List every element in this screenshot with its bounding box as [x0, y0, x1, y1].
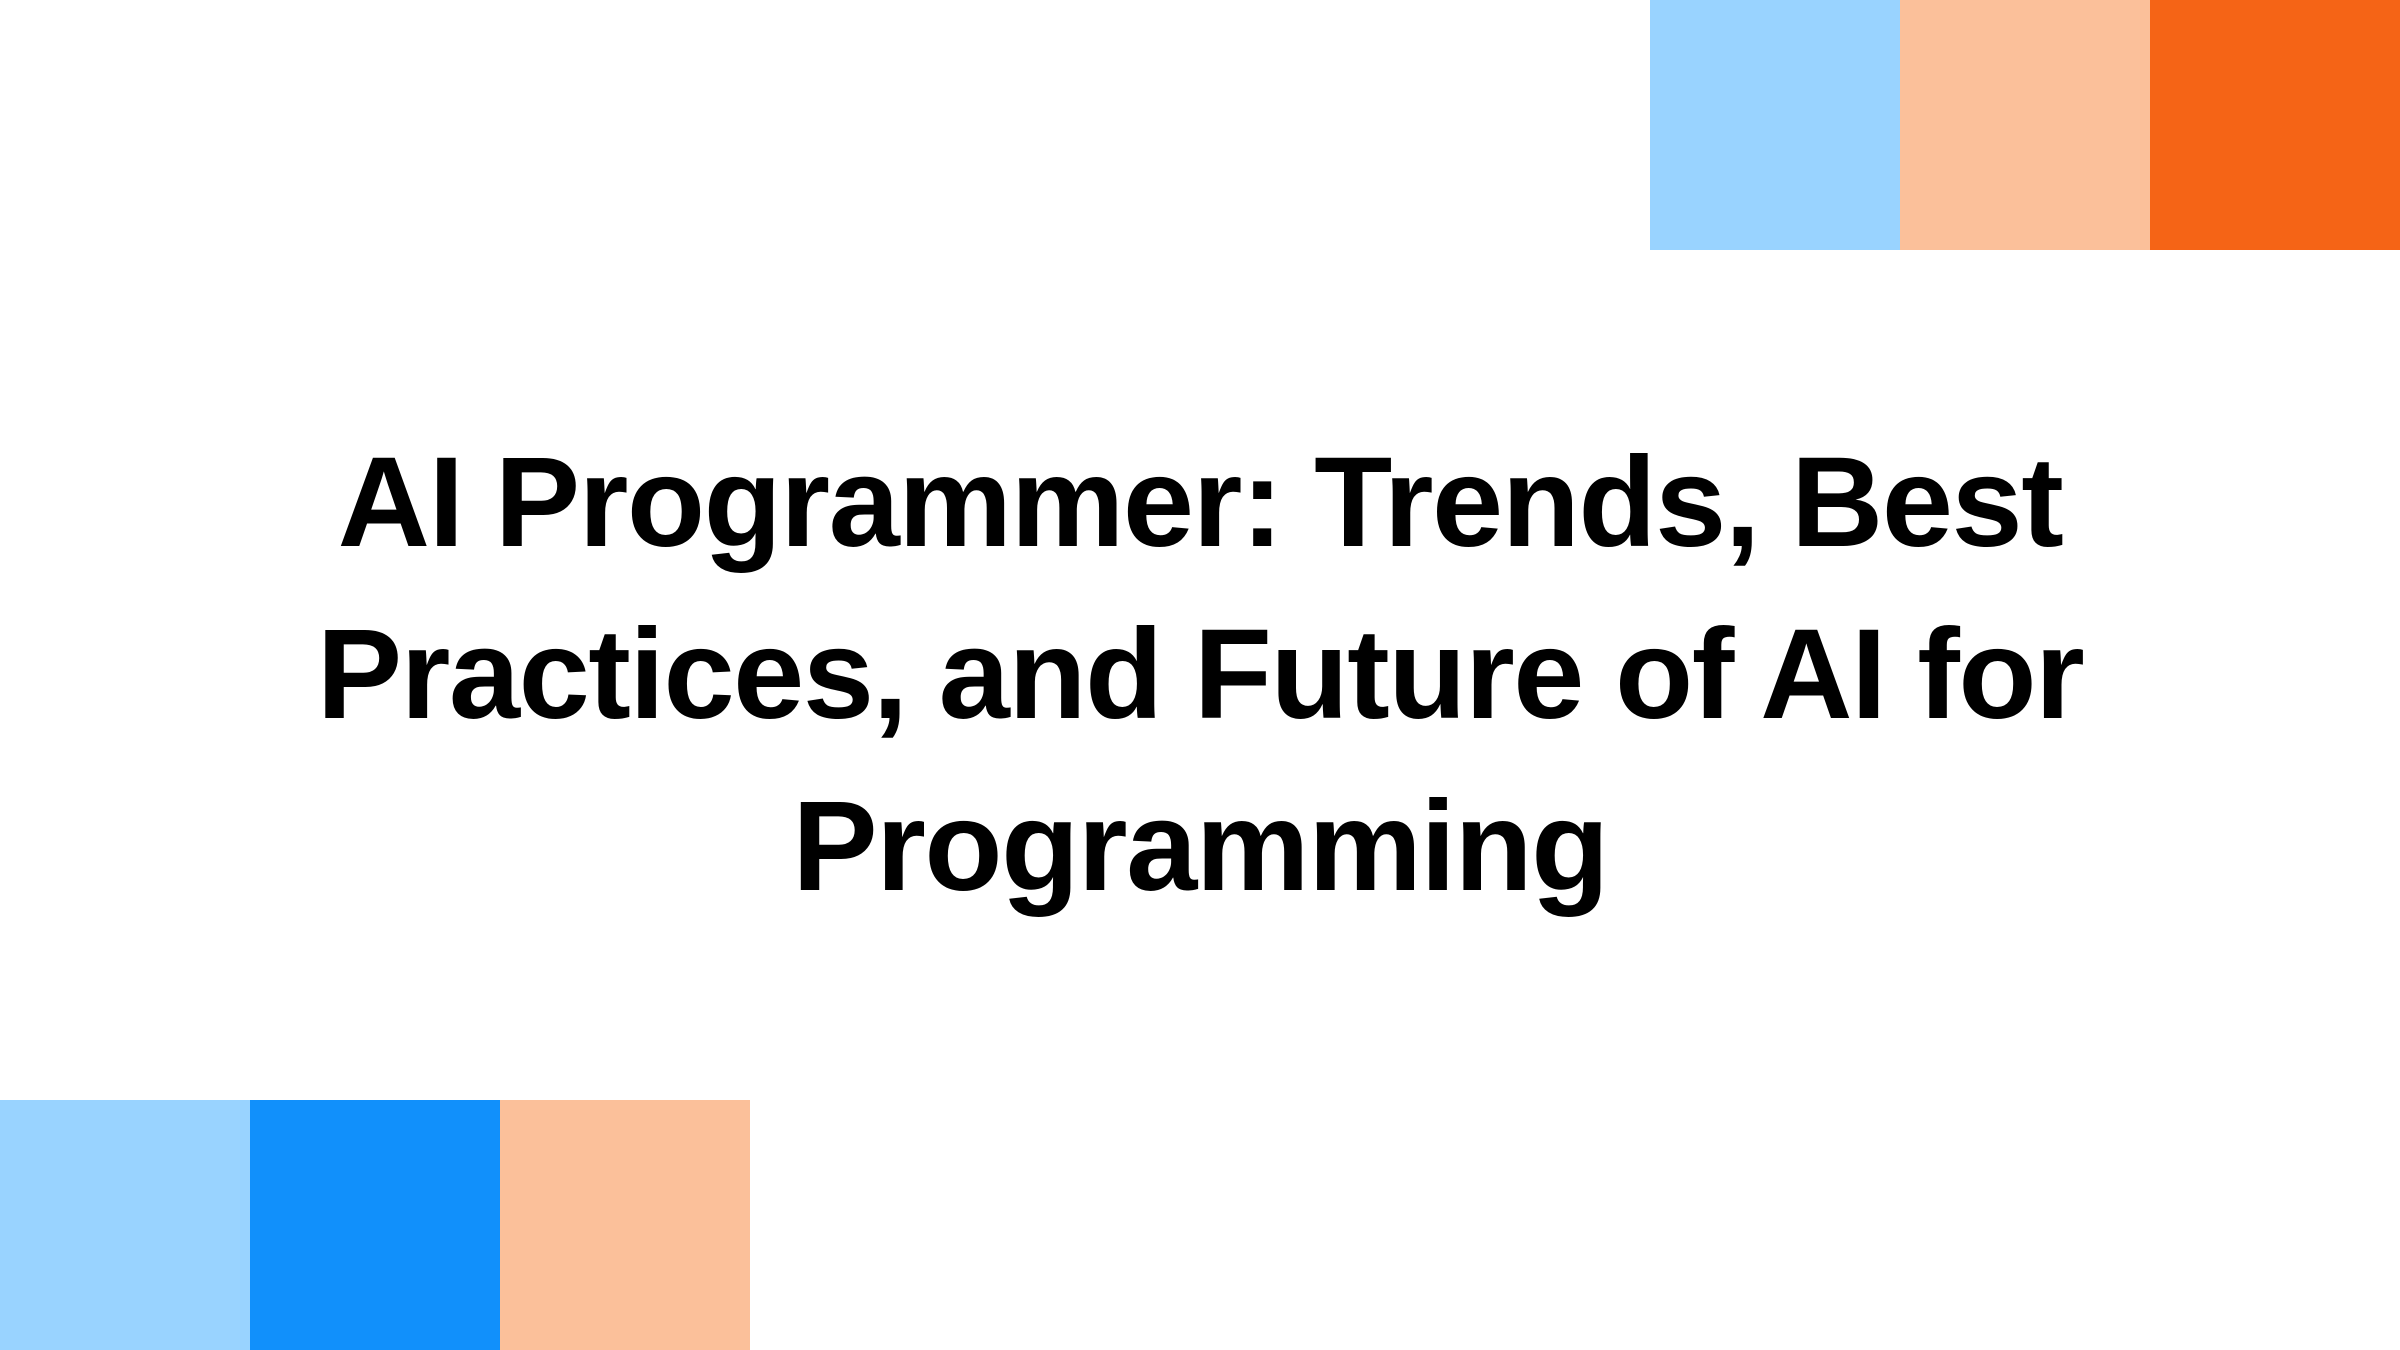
color-block-orange: [2150, 0, 2400, 250]
bottom-left-color-strip: [0, 1100, 750, 1350]
top-right-color-strip: [1650, 0, 2400, 250]
color-block-bright-blue: [250, 1100, 500, 1350]
color-block-light-blue: [1650, 0, 1900, 250]
color-block-peach: [500, 1100, 750, 1350]
color-block-peach: [1900, 0, 2150, 250]
color-block-light-blue: [0, 1100, 250, 1350]
title-slide: AI Programmer: Trends, Best Practices, a…: [0, 0, 2400, 1350]
page-title: AI Programmer: Trends, Best Practices, a…: [270, 417, 2130, 933]
